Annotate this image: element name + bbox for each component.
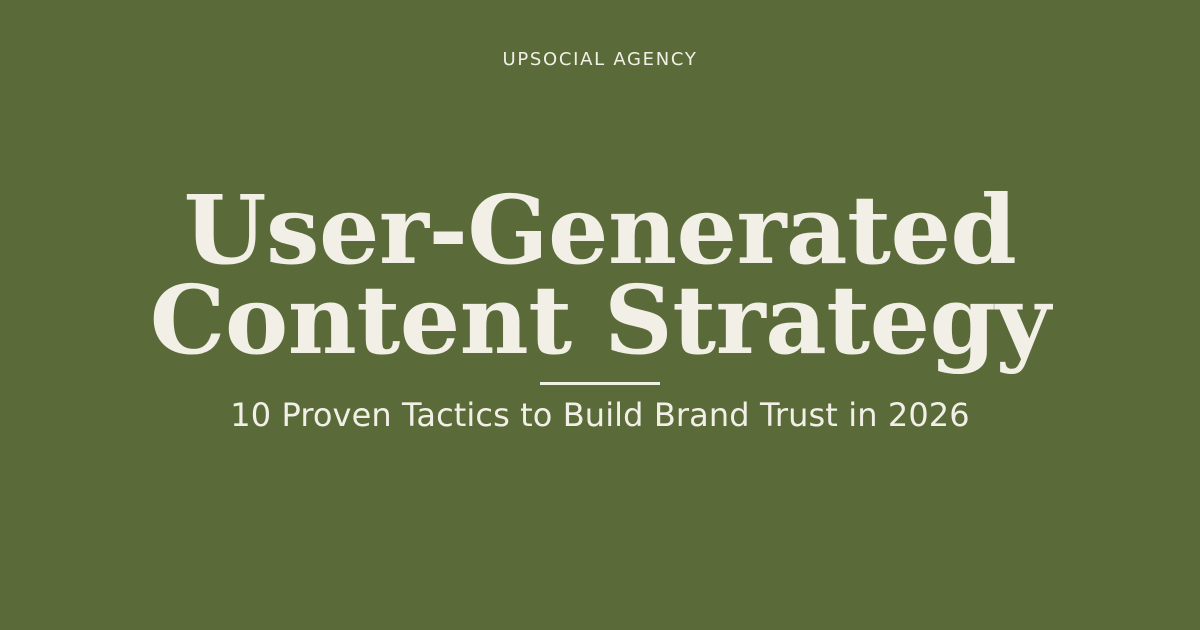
page-title: User-Generated Content Strategy	[150, 186, 1050, 367]
page-subtitle: 10 Proven Tactics to Build Brand Trust i…	[230, 395, 969, 435]
brand-eyebrow: UPSOCIAL AGENCY	[0, 48, 1200, 72]
page-title-line-1: User-Generated	[150, 186, 1050, 276]
divider	[540, 382, 660, 385]
title-card: UPSOCIAL AGENCY User-Generated Content S…	[0, 0, 1200, 630]
page-title-line-2: Content Strategy	[150, 276, 1050, 366]
hero-block: User-Generated Content Strategy 10 Prove…	[0, 186, 1200, 435]
